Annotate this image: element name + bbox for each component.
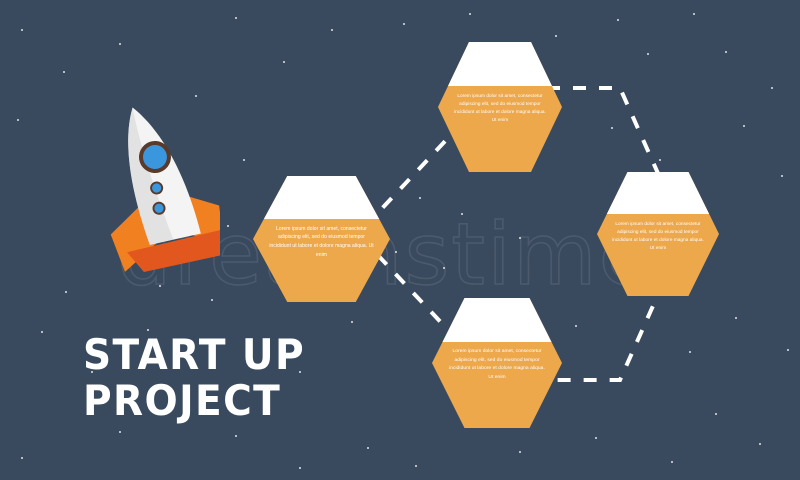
star: [735, 317, 737, 319]
star: [595, 437, 597, 439]
hexagon-text: Lorem ipsum dolor sit amet, consectetur …: [267, 225, 377, 259]
star: [403, 23, 405, 25]
hexagon-top-band: [253, 176, 390, 219]
star: [159, 285, 161, 287]
startup-project-infographic: dreamstime. Lorem ipsum dolo: [0, 0, 800, 480]
star: [211, 299, 213, 301]
star: [283, 61, 285, 63]
star: [415, 465, 417, 467]
hexagon-card-top[interactable]: Lorem ipsum dolor sit amet, consectetur …: [438, 42, 562, 172]
hexagon-card-bottom[interactable]: Lorem ipsum dolor sit amet, consectetur …: [432, 298, 562, 428]
hexagon-body: Lorem ipsum dolor sit amet, consectetur …: [432, 342, 562, 428]
star: [419, 197, 421, 199]
star: [469, 13, 471, 15]
star: [351, 321, 353, 323]
star: [21, 457, 23, 459]
star: [611, 127, 613, 129]
star: [647, 53, 650, 56]
star: [743, 125, 745, 127]
hexagon-card-left[interactable]: Lorem ipsum dolor sit amet, consectetur …: [253, 176, 390, 302]
star: [461, 213, 463, 215]
hexagon-text: Lorem ipsum dolor sit amet, consectetur …: [446, 348, 547, 382]
star: [693, 13, 695, 15]
star: [519, 237, 521, 239]
star: [235, 435, 237, 437]
star: [299, 467, 301, 469]
star: [65, 291, 67, 293]
title-line-1: START UP: [83, 332, 305, 378]
hexagon-text: Lorem ipsum dolor sit amet, consectetur …: [453, 92, 547, 124]
star: [63, 71, 65, 73]
page-title: START UP PROJECT: [83, 332, 322, 424]
star: [519, 451, 521, 453]
star: [243, 159, 245, 161]
star: [17, 119, 20, 122]
star: [759, 443, 761, 445]
star: [367, 447, 369, 449]
hexagon-body: Lorem ipsum dolor sit amet, consectetur …: [597, 214, 719, 296]
hexagon-body: Lorem ipsum dolor sit amet, consectetur …: [253, 219, 390, 302]
hexagon-top-band: [597, 172, 719, 214]
star: [617, 19, 620, 22]
hexagon-card-right[interactable]: Lorem ipsum dolor sit amet, consectetur …: [597, 172, 719, 296]
star: [21, 29, 23, 31]
star: [689, 351, 691, 353]
hexagon-top-band: [438, 42, 562, 86]
hexagon-text: Lorem ipsum dolor sit amet, consectetur …: [610, 220, 705, 252]
star: [771, 87, 773, 89]
star: [41, 331, 43, 333]
star: [227, 225, 229, 227]
star: [787, 349, 789, 351]
star: [395, 251, 397, 253]
star: [781, 175, 783, 177]
star: [671, 461, 673, 463]
star: [659, 159, 661, 161]
hexagon-top-band: [432, 298, 562, 342]
star: [443, 267, 445, 269]
star: [119, 431, 121, 433]
star: [725, 51, 728, 54]
star: [119, 43, 121, 45]
star: [235, 17, 238, 20]
hexagon-body: Lorem ipsum dolor sit amet, consectetur …: [438, 86, 562, 172]
star: [555, 35, 557, 37]
rocket-icon: [80, 92, 220, 282]
star: [331, 29, 333, 31]
star: [575, 325, 577, 327]
title-line-2: PROJECT: [83, 378, 305, 424]
star: [715, 413, 717, 415]
